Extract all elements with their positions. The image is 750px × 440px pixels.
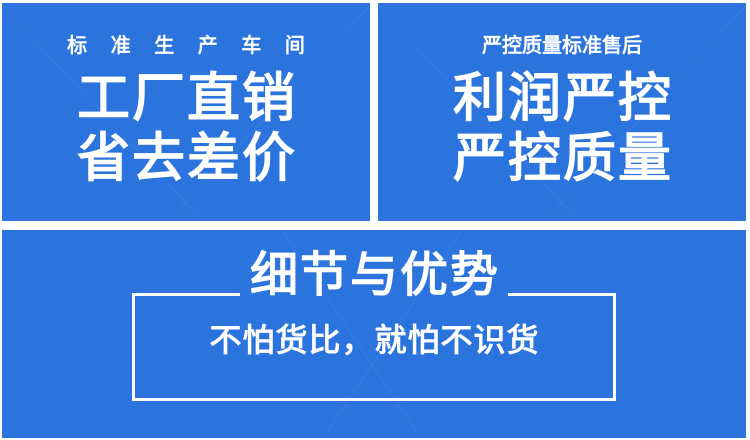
details-title: 细节与优势 [248,252,500,300]
panel-factory-eyebrow: 标 准 生 产 车 间 [58,36,314,56]
panel-details-advantages: 细节与优势 不怕货比，就怕不识货 [2,230,746,438]
panel-quality-headline-line1: 利润严控 [451,69,673,128]
details-subtitle: 不怕货比，就怕不识货 [208,324,539,356]
panel-factory-direct-sales: 标 准 生 产 车 间 工厂直销 省去差价 [2,3,370,221]
frame-edge-top-left [132,293,240,296]
promo-banner: 标 准 生 产 车 间 工厂直销 省去差价 严控质量标准售后 利润严控 严控质量 [0,0,750,440]
details-frame: 细节与优势 不怕货比，就怕不识货 [132,293,616,401]
panel-quality-eyebrow: 严控质量标准售后 [482,36,642,56]
frame-edge-top-right [508,293,616,296]
frame-edge-right [613,293,616,401]
panel-factory-headline-line2: 省去差价 [75,129,297,188]
panel-quality-control: 严控质量标准售后 利润严控 严控质量 [378,3,746,221]
panel-factory-headline-line1: 工厂直销 [75,69,297,128]
frame-edge-bottom [132,398,616,401]
panel-quality-headline-line2: 严控质量 [451,129,673,188]
frame-edge-left [132,293,135,401]
